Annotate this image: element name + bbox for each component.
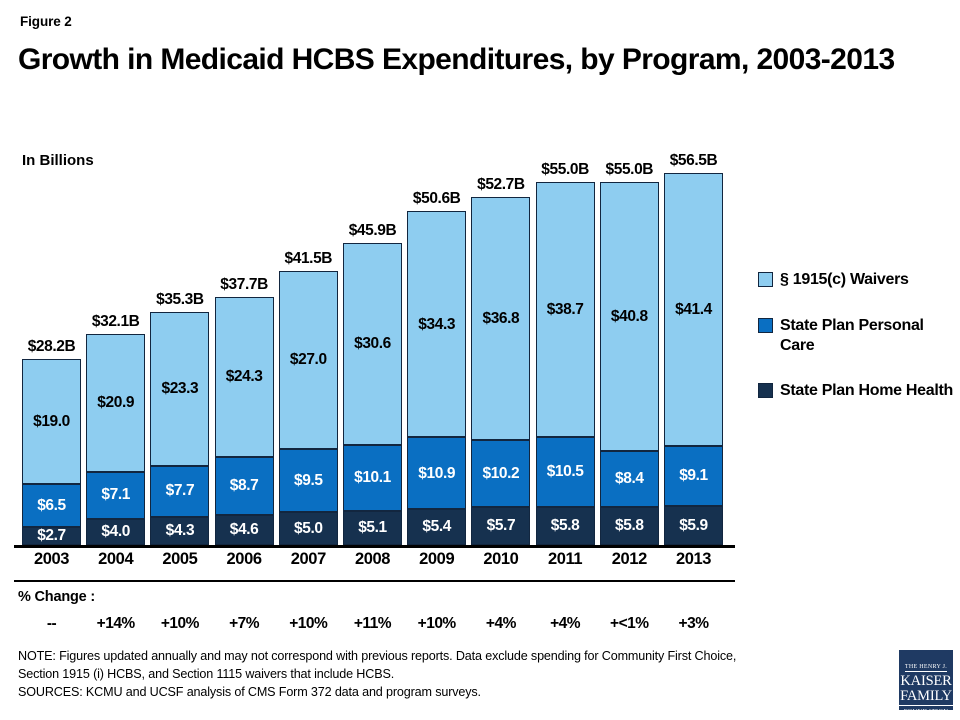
bar-segment[interactable]: $9.5 <box>279 449 338 512</box>
home-health-swatch <box>758 383 773 398</box>
bar-segment-label: $8.4 <box>615 471 644 487</box>
bar-segment-label: $9.5 <box>294 473 323 489</box>
bar-segment[interactable]: $7.7 <box>150 466 209 517</box>
bar-group[interactable]: $55.0B$40.8$8.4$5.8 <box>600 182 659 545</box>
x-axis-tick-label: 2009 <box>407 550 466 569</box>
legend-label: § 1915(c) Waivers <box>780 270 909 290</box>
bar-segment[interactable]: $27.0 <box>279 271 338 449</box>
footnotes: NOTE: Figures updated annually and may n… <box>18 648 878 702</box>
bar-segment-label: $2.7 <box>37 528 66 544</box>
bar-segment[interactable]: $41.4 <box>664 173 723 446</box>
bar-segment-label: $34.3 <box>418 317 455 333</box>
bar-total-label: $35.3B <box>156 291 204 309</box>
bar-total-label: $41.5B <box>285 250 333 268</box>
bar-segment-label: $40.8 <box>611 309 648 325</box>
bar-segment[interactable]: $4.6 <box>215 515 274 545</box>
bar-group[interactable]: $56.5B$41.4$9.1$5.9 <box>664 173 723 545</box>
pct-change-value: +10% <box>279 615 338 633</box>
x-axis-tick-label: 2010 <box>471 550 530 569</box>
bar-segment-label: $10.5 <box>547 464 584 480</box>
bar-group[interactable]: $35.3B$23.3$7.7$4.3 <box>150 312 209 545</box>
bar-segment-label: $5.0 <box>294 521 323 537</box>
bar-segment-label: $38.7 <box>547 302 584 318</box>
figure-label: Figure 2 <box>20 14 72 29</box>
bar-segment[interactable]: $5.9 <box>664 506 723 545</box>
bar-segment[interactable]: $10.9 <box>407 437 466 509</box>
pct-change-value: +4% <box>536 615 595 633</box>
bar-segment-label: $24.3 <box>226 369 263 385</box>
x-axis-tick-label: 2013 <box>664 550 723 569</box>
pct-change-value: +10% <box>407 615 466 633</box>
bar-group[interactable]: $28.2B$19.0$6.5$2.7 <box>22 359 81 545</box>
bar-segment-label: $7.7 <box>166 483 195 499</box>
bar-segment-label: $10.1 <box>354 470 391 486</box>
bar-segment[interactable]: $5.1 <box>343 511 402 545</box>
bar-segment[interactable]: $2.7 <box>22 527 81 545</box>
bar-total-label: $55.0B <box>541 161 589 179</box>
footnote-line: NOTE: Figures updated annually and may n… <box>18 648 878 666</box>
x-axis-tick-label: 2008 <box>343 550 402 569</box>
bar-group[interactable]: $50.6B$34.3$10.9$5.4 <box>407 211 466 545</box>
bar-group[interactable]: $37.7B$24.3$8.7$4.6 <box>215 297 274 545</box>
bar-total-label: $52.7B <box>477 176 525 194</box>
bar-segment[interactable]: $4.0 <box>86 519 145 545</box>
logo-line-1: THE HENRY J. <box>905 664 947 672</box>
bar-segment[interactable]: $23.3 <box>150 312 209 466</box>
pct-change-value: +14% <box>86 615 145 633</box>
bar-segment[interactable]: $10.2 <box>471 440 530 507</box>
legend-item[interactable]: State Plan Personal Care <box>758 316 958 356</box>
bar-segment-label: $5.8 <box>551 518 580 534</box>
bar-segment-label: $5.1 <box>358 520 387 536</box>
bar-segment[interactable]: $5.8 <box>600 507 659 545</box>
pct-change-value: +<1% <box>600 615 659 633</box>
bar-segment[interactable]: $30.6 <box>343 243 402 445</box>
bar-total-label: $50.6B <box>413 190 461 208</box>
bar-total-label: $56.5B <box>670 152 718 170</box>
legend-label: State Plan Home Health <box>780 381 953 401</box>
bar-group[interactable]: $52.7B$36.8$10.2$5.7 <box>471 197 530 545</box>
kaiser-family-foundation-logo: THE HENRY J. KAISER FAMILY FOUNDATION <box>899 650 953 710</box>
stacked-bar-chart: $28.2B$19.0$6.5$2.7$32.1B$20.9$7.1$4.0$3… <box>0 130 760 545</box>
pct-change-value: +4% <box>471 615 530 633</box>
bar-segment-label: $23.3 <box>161 381 198 397</box>
page-title: Growth in Medicaid HCBS Expenditures, by… <box>18 42 918 77</box>
bar-segment-label: $41.4 <box>675 302 712 318</box>
x-axis-line <box>14 545 735 548</box>
bar-segment[interactable]: $10.5 <box>536 437 595 506</box>
bar-segment[interactable]: $6.5 <box>22 484 81 527</box>
x-axis-tick-label: 2003 <box>22 550 81 569</box>
x-axis-tick-label: 2006 <box>215 550 274 569</box>
bar-segment-label: $5.9 <box>679 518 708 534</box>
x-axis-tick-label: 2007 <box>279 550 338 569</box>
bar-group[interactable]: $32.1B$20.9$7.1$4.0 <box>86 334 145 545</box>
logo-line-2: KAISER <box>899 674 953 689</box>
logo-line-3: FAMILY <box>899 689 953 706</box>
bar-segment-label: $5.7 <box>487 518 516 534</box>
legend-item[interactable]: § 1915(c) Waivers <box>758 270 958 290</box>
bar-segment[interactable]: $20.9 <box>86 334 145 472</box>
x-axis-tick-labels: 2003200420052006200720082009201020112012… <box>0 550 760 576</box>
bar-segment-label: $36.8 <box>482 311 519 327</box>
bar-segment[interactable]: $5.0 <box>279 512 338 545</box>
bar-segment[interactable]: $5.7 <box>471 507 530 545</box>
pct-change-label: % Change : <box>18 589 95 605</box>
bar-segment[interactable]: $8.4 <box>600 451 659 506</box>
bar-total-label: $32.1B <box>92 313 140 331</box>
x-axis-tick-label: 2004 <box>86 550 145 569</box>
bar-segment-label: $27.0 <box>290 352 327 368</box>
x-axis-tick-label: 2005 <box>150 550 209 569</box>
pct-change-value: +7% <box>215 615 274 633</box>
bar-segment-label: $10.9 <box>418 466 455 482</box>
bar-segment[interactable]: $8.7 <box>215 457 274 514</box>
bar-segment-label: $9.1 <box>679 468 708 484</box>
pct-change-value: +3% <box>664 615 723 633</box>
bar-segment-label: $8.7 <box>230 478 259 494</box>
bar-segment[interactable]: $40.8 <box>600 182 659 451</box>
pct-change-row: --+14%+10%+7%+10%+11%+10%+4%+4%+<1%+3% <box>0 615 760 641</box>
logo-line-4: FOUNDATION <box>899 708 953 715</box>
x-axis-tick-label: 2011 <box>536 550 595 569</box>
bar-group[interactable]: $41.5B$27.0$9.5$5.0 <box>279 271 338 545</box>
bar-segment[interactable]: $24.3 <box>215 297 274 457</box>
pct-change-value: +11% <box>343 615 402 633</box>
pct-change-value: -- <box>22 615 81 633</box>
waivers-swatch <box>758 272 773 287</box>
bar-segment-label: $6.5 <box>37 498 66 514</box>
bar-segment[interactable]: $34.3 <box>407 211 466 437</box>
bar-segment[interactable]: $5.8 <box>536 507 595 545</box>
personal-care-swatch <box>758 318 773 333</box>
axis-separator-line <box>14 580 735 582</box>
slide: Figure 2 Growth in Medicaid HCBS Expendi… <box>0 0 960 720</box>
bar-segment[interactable]: $4.3 <box>150 517 209 545</box>
bar-segment[interactable]: $38.7 <box>536 182 595 437</box>
chart-legend: § 1915(c) WaiversState Plan Personal Car… <box>758 270 958 427</box>
bar-total-label: $28.2B <box>28 338 76 356</box>
bar-segment-label: $5.4 <box>422 519 451 535</box>
bar-segment[interactable]: $7.1 <box>86 472 145 519</box>
bar-segment[interactable]: $5.4 <box>407 509 466 545</box>
bar-group[interactable]: $45.9B$30.6$10.1$5.1 <box>343 243 402 545</box>
bar-segment-label: $30.6 <box>354 336 391 352</box>
bar-segment-label: $4.0 <box>101 524 130 540</box>
bar-total-label: $45.9B <box>349 222 397 240</box>
bar-total-label: $55.0B <box>606 161 654 179</box>
legend-label: State Plan Personal Care <box>780 316 958 356</box>
bar-segment-label: $19.0 <box>33 414 70 430</box>
bar-segment-label: $20.9 <box>97 395 134 411</box>
bar-segment-label: $4.3 <box>166 523 195 539</box>
x-axis-tick-label: 2012 <box>600 550 659 569</box>
bar-group[interactable]: $55.0B$38.7$10.5$5.8 <box>536 182 595 545</box>
bar-segment-label: $10.2 <box>482 466 519 482</box>
bar-segment[interactable]: $10.1 <box>343 445 402 512</box>
bar-segment[interactable]: $36.8 <box>471 197 530 440</box>
bar-segment-label: $7.1 <box>101 487 130 503</box>
pct-change-value: +10% <box>150 615 209 633</box>
bar-segment[interactable]: $19.0 <box>22 359 81 484</box>
bar-segment[interactable]: $9.1 <box>664 446 723 506</box>
footnote-line: SOURCES: KCMU and UCSF analysis of CMS F… <box>18 684 878 702</box>
footnote-line: Section 1915 (i) HCBS, and Section 1115 … <box>18 666 878 684</box>
bar-segment-label: $5.8 <box>615 518 644 534</box>
bar-total-label: $37.7B <box>220 276 268 294</box>
bar-segment-label: $4.6 <box>230 522 259 538</box>
legend-item[interactable]: State Plan Home Health <box>758 381 958 401</box>
